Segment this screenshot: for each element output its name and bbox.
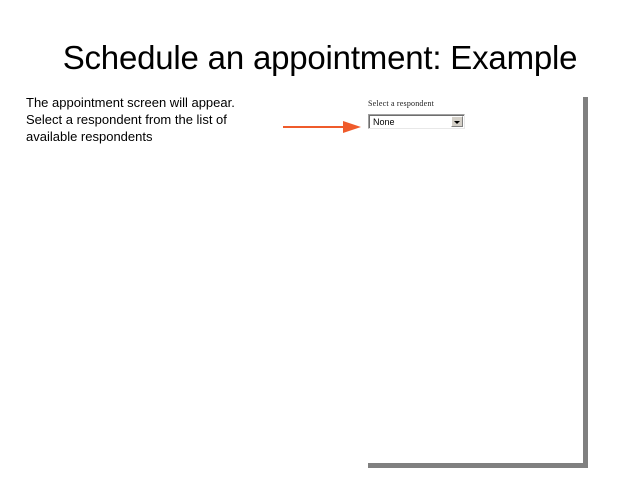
embedded-screenshot [363,92,583,463]
chevron-down-icon[interactable] [451,116,463,127]
page-title: Schedule an appointment: Example [0,38,640,78]
instruction-text: The appointment screen will appear. Sele… [26,94,256,145]
respondent-select-value: None [373,116,395,129]
screenshot-content-area [363,92,583,463]
respondent-select-dropdown[interactable]: None [368,114,465,129]
right-arrow-icon [283,119,363,135]
respondent-select-label: Select a respondent [368,98,478,109]
chevron-down-glyph [454,121,460,124]
respondent-selector-group: Select a respondent None [368,98,478,129]
slide-canvas: Schedule an appointment: Example The app… [0,0,640,480]
